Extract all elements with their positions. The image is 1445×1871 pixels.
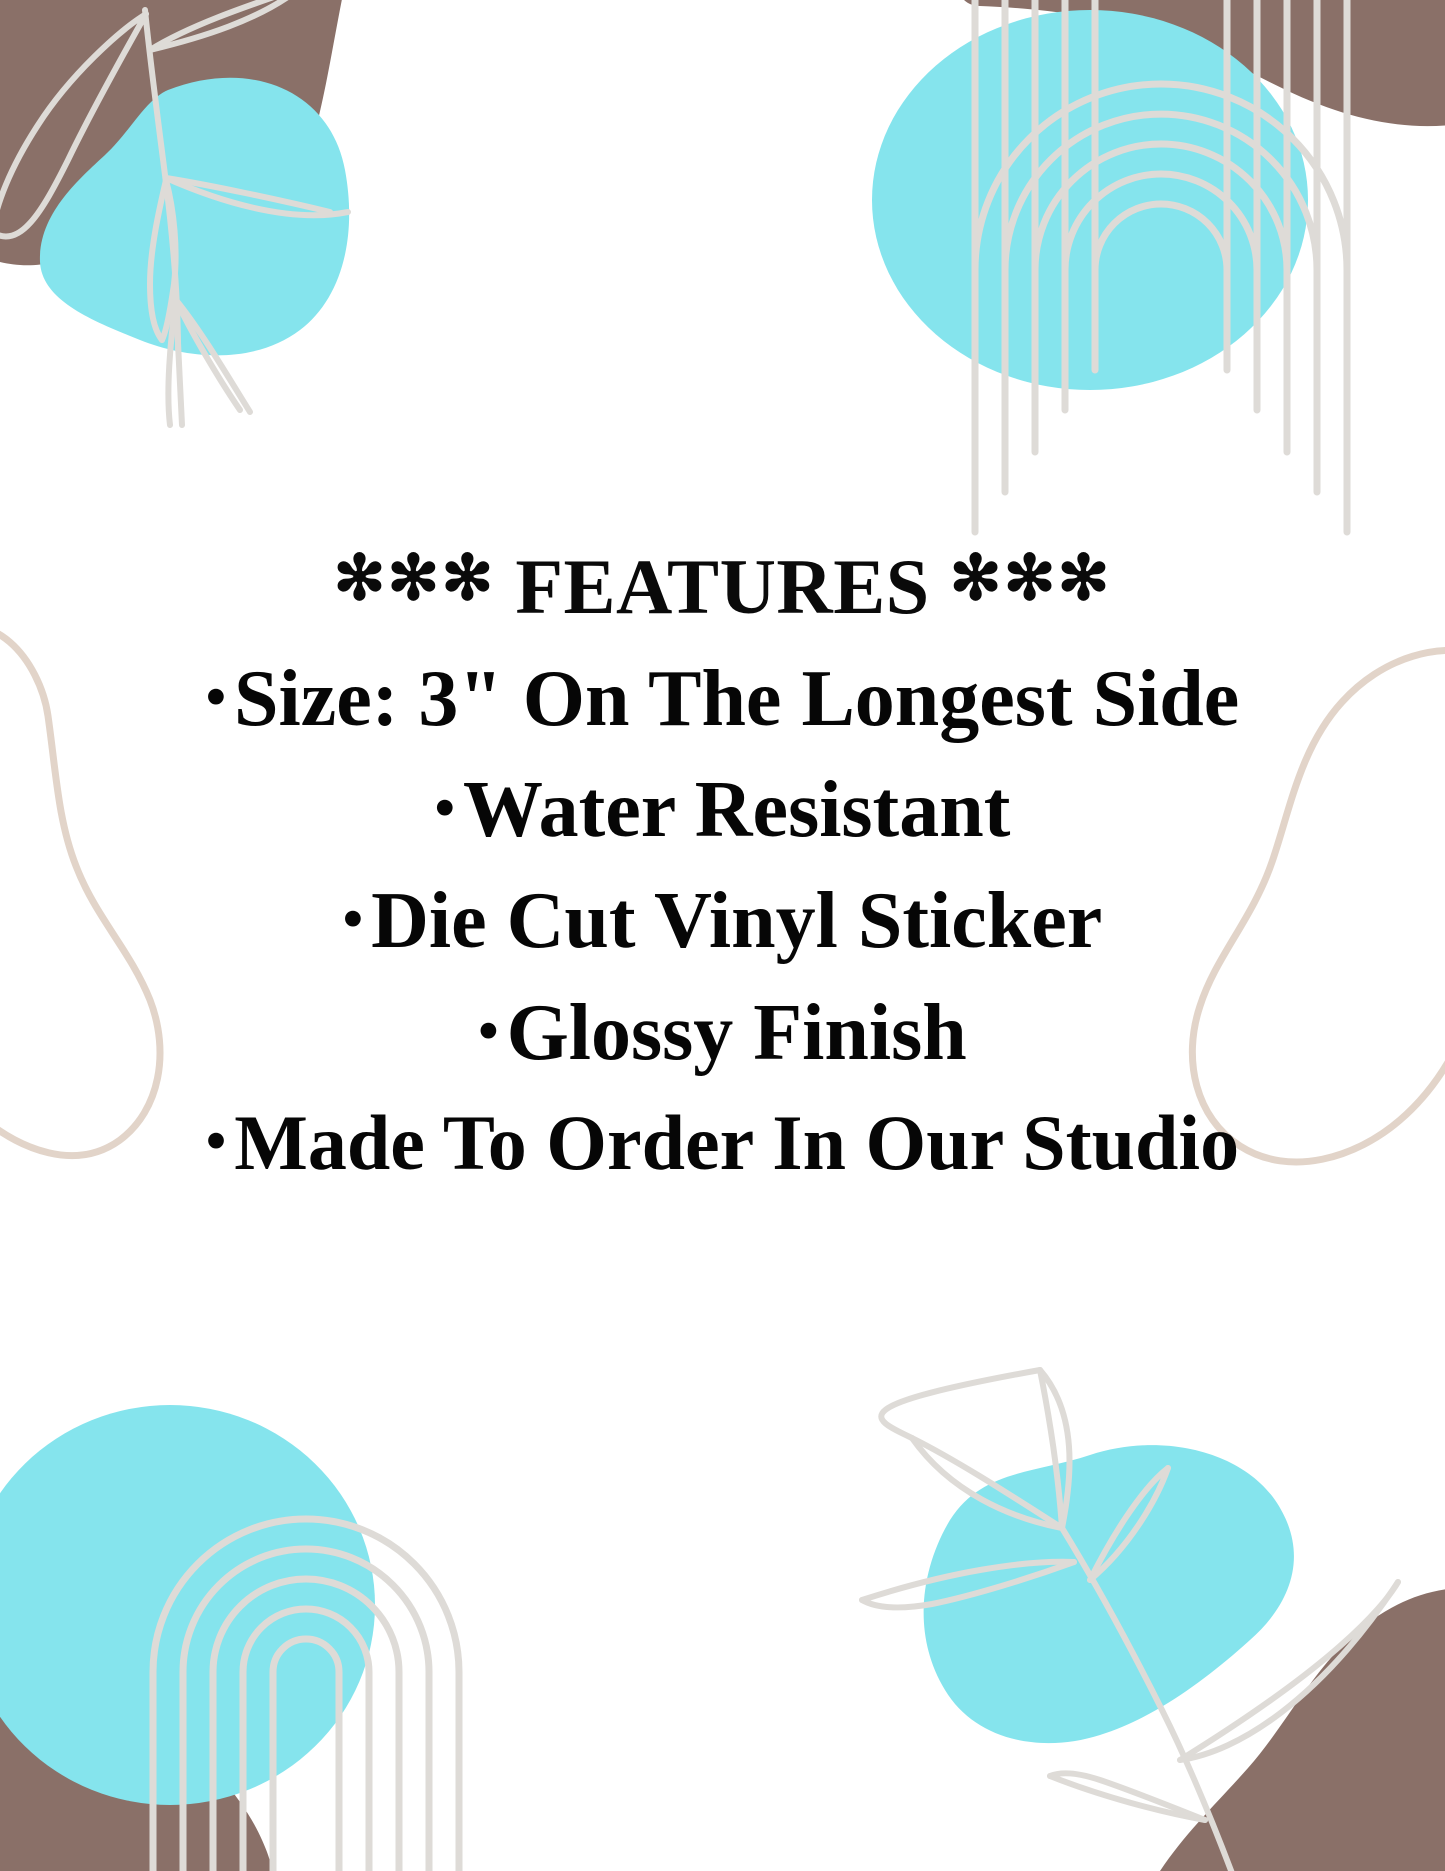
- list-item: •Size: 3" On The Longest Side: [0, 644, 1445, 755]
- bottom-left-cyan-circle: [0, 1405, 375, 1805]
- sticker-features-card: ✻✻✻ FEATURES ✻✻✻ •Size: 3" On The Longes…: [0, 0, 1445, 1871]
- features-content: ✻✻✻ FEATURES ✻✻✻ •Size: 3" On The Longes…: [0, 548, 1445, 1197]
- top-right-nested-arches: [975, 0, 1347, 532]
- page-title-label: FEATURES: [515, 543, 929, 630]
- list-item: •Water Resistant: [0, 755, 1445, 866]
- list-item-label: Size: 3" On The Longest Side: [234, 655, 1239, 743]
- bullet-icon: •: [206, 1108, 234, 1173]
- list-item: •Made To Order In Our Studio: [0, 1089, 1445, 1197]
- list-item-label: Die Cut Vinyl Sticker: [371, 877, 1102, 965]
- list-item-label: Water Resistant: [463, 766, 1010, 854]
- bottom-left-brown-blob: [0, 1658, 276, 1871]
- bullet-icon: •: [343, 886, 371, 951]
- stars-left-icon: ✻✻✻: [333, 545, 495, 613]
- top-right-brown-blob: [954, 0, 1445, 126]
- bottom-left-decoration: [0, 1405, 459, 1871]
- list-item: •Die Cut Vinyl Sticker: [0, 866, 1445, 977]
- top-left-decoration: [0, 0, 350, 425]
- stars-right-icon: ✻✻✻: [950, 545, 1112, 613]
- page-title: ✻✻✻ FEATURES ✻✻✻: [0, 548, 1445, 626]
- bullet-icon: •: [206, 664, 234, 729]
- top-left-brown-blob: [0, 0, 350, 277]
- list-item-label: Made To Order In Our Studio: [234, 1099, 1239, 1186]
- bullet-icon: •: [478, 998, 506, 1063]
- top-right-decoration: [872, 0, 1445, 532]
- top-right-cyan-circle: [872, 10, 1308, 390]
- top-left-eucalyptus-leaf: [0, 0, 348, 425]
- list-item: •Glossy Finish: [0, 978, 1445, 1089]
- bullet-icon: •: [435, 775, 463, 840]
- feature-list: •Size: 3" On The Longest Side •Water Res…: [0, 644, 1445, 1197]
- bottom-right-cyan-blob: [924, 1445, 1294, 1743]
- top-left-cyan-blob: [40, 78, 349, 356]
- bottom-right-brown-blob: [1160, 1587, 1445, 1871]
- bottom-right-eucalyptus-leaf: [862, 1370, 1398, 1871]
- list-item-label: Glossy Finish: [507, 989, 967, 1077]
- bottom-right-decoration: [862, 1370, 1445, 1871]
- bottom-left-nested-arches: [153, 1519, 459, 1871]
